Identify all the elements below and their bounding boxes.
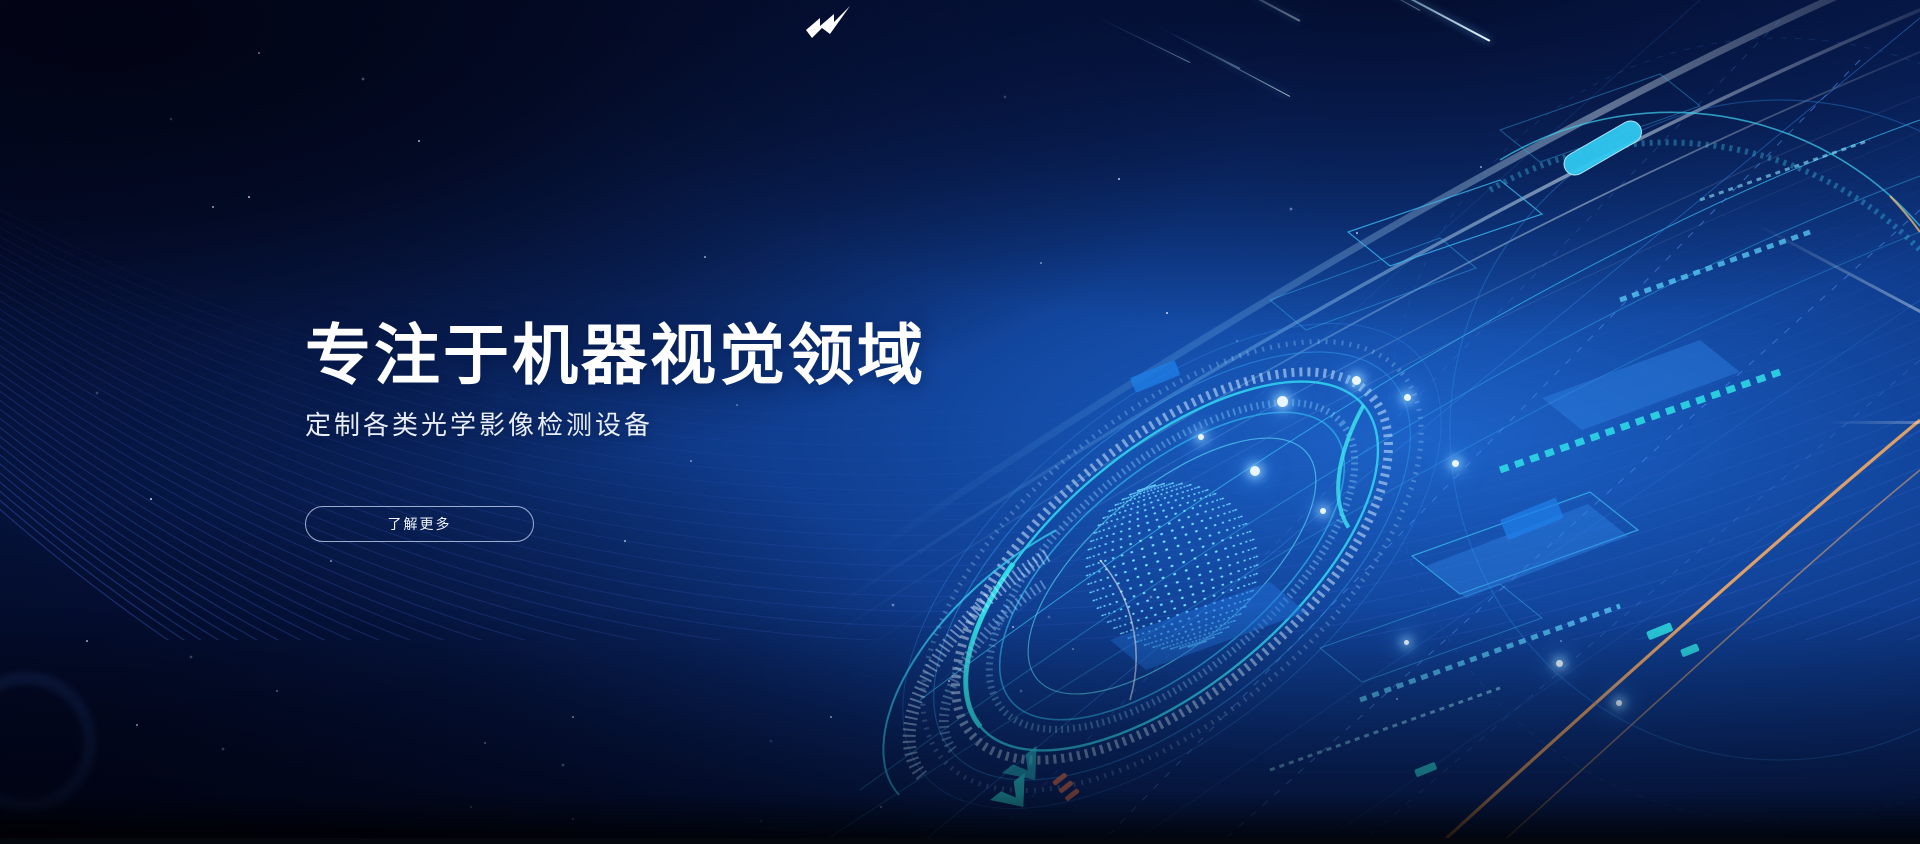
page-subtitle: 定制各类光学影像检测设备 [305,409,1065,443]
page-title: 专注于机器视觉领域 [305,318,1065,393]
learn-more-button[interactable]: 了解更多 [305,506,534,542]
bottom-strip [0,838,1920,844]
hero-banner: 专注于机器视觉领域 定制各类光学影像检测设备 了解更多 [0,0,1920,844]
hero-content: 专注于机器视觉领域 定制各类光学影像检测设备 了解更多 [305,318,1065,542]
